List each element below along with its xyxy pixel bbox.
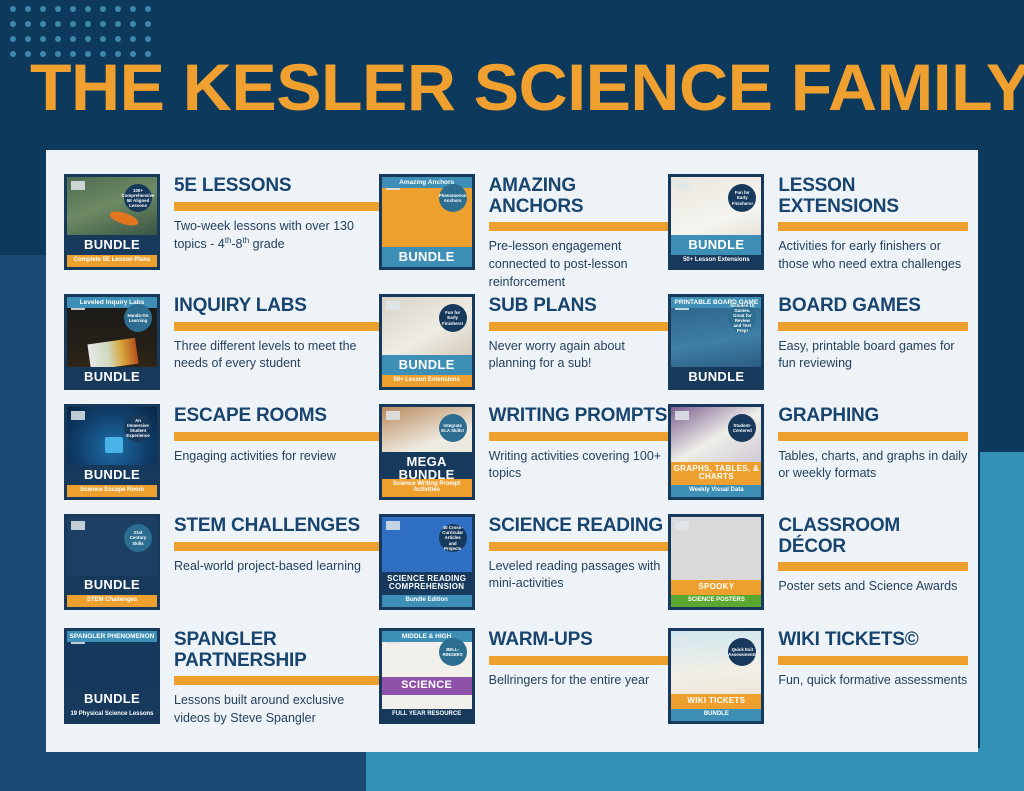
product-card[interactable]: SPOOKYSCIENCE POSTERSCLASSROOM DÉCORPost… xyxy=(668,512,968,626)
product-card[interactable]: SPANGLER PHENOMENONBUNDLE19 Physical Sci… xyxy=(64,626,379,728)
grid-dot xyxy=(130,6,136,12)
thumbnail-circle-badge: An Immersive Student Experience xyxy=(124,414,152,442)
title-underline-rule xyxy=(489,542,669,551)
thumbnail-circle-badge: Fun for Early Finishers! xyxy=(439,304,467,332)
thumbnail-bundle-label: BUNDLE xyxy=(67,235,157,255)
product-thumbnail[interactable]: SPOOKYSCIENCE POSTERS xyxy=(668,514,764,610)
grid-dot xyxy=(10,51,16,57)
kesler-logo-icon xyxy=(675,635,689,644)
grid-dot xyxy=(70,36,76,42)
thumbnail-bundle-label: BUNDLE xyxy=(67,575,157,595)
thumbnail-bundle-label: BUNDLE xyxy=(67,689,157,709)
product-thumbnail[interactable]: An Immersive Student ExperienceBUNDLESci… xyxy=(64,404,160,500)
product-thumbnail[interactable]: 21st Century SkillsBUNDLESTEM Challenges xyxy=(64,514,160,610)
grid-dot xyxy=(100,36,106,42)
title-underline-rule xyxy=(174,202,379,211)
product-text-block: WIKI TICKETS©Fun, quick formative assess… xyxy=(764,626,968,689)
grid-dot xyxy=(100,6,106,12)
product-description: Tables, charts, and graphs in daily or w… xyxy=(778,448,968,484)
kesler-logo-icon xyxy=(386,301,400,310)
product-card[interactable]: Leveled Inquiry LabsHands-On LearningBUN… xyxy=(64,292,379,402)
title-underline-rule xyxy=(778,322,968,331)
thumbnail-sub-label: 50+ Lesson Extensions xyxy=(382,375,472,387)
kesler-logo-icon xyxy=(386,521,400,530)
thumbnail-bundle-label: BUNDLE xyxy=(67,367,157,387)
grid-dot xyxy=(70,6,76,12)
product-card[interactable]: Amazing AnchorsPhenomenon AnchorsBUNDLEA… xyxy=(379,172,669,292)
product-card[interactable]: An Immersive Student ExperienceBUNDLESci… xyxy=(64,402,379,512)
product-text-block: CLASSROOM DÉCORPoster sets and Science A… xyxy=(764,512,968,596)
product-text-block: WRITING PROMPTSWriting activities coveri… xyxy=(475,402,669,483)
title-underline-rule xyxy=(174,542,379,551)
thumbnail-bundle-label: BUNDLE xyxy=(671,235,761,255)
product-row: SPANGLER PHENOMENONBUNDLE19 Physical Sci… xyxy=(64,626,968,728)
thumbnail-circle-badge: 21st Century Skills xyxy=(124,524,152,552)
grid-dot xyxy=(70,21,76,27)
product-card[interactable]: Quick Exit AssessmentsWIKI TICKETSBUNDLE… xyxy=(668,626,968,728)
product-description: Pre-lesson engagement connected to post-… xyxy=(489,238,669,291)
product-title: SPANGLER PARTNERSHIP xyxy=(174,630,379,671)
right-accent-band xyxy=(980,452,1024,791)
product-title: SCIENCE READING xyxy=(489,516,669,537)
grid-dot xyxy=(100,21,106,27)
product-card[interactable]: 40 Cross-Curricular Articles and Project… xyxy=(379,512,669,626)
left-accent-band xyxy=(0,255,46,791)
thumbnail-circle-badge: Hands-On Learning xyxy=(124,304,152,332)
thumbnail-bundle-label: BUNDLE xyxy=(671,367,761,387)
product-description: Easy, printable board games for fun revi… xyxy=(778,338,968,374)
thumbnail-circle-badge: 100+ Comprehensive 5E Aligned Lessons xyxy=(124,184,152,212)
title-underline-rule xyxy=(489,656,669,665)
grid-dot xyxy=(40,36,46,42)
kesler-logo-icon xyxy=(71,521,85,530)
grid-dot xyxy=(40,21,46,27)
product-title: WIKI TICKETS© xyxy=(778,630,968,651)
product-thumbnail[interactable]: Integrate ELA Skills!MEGA BUNDLEScience … xyxy=(379,404,475,500)
product-title: 5E LESSONS xyxy=(174,176,379,197)
grid-dot xyxy=(85,21,91,27)
product-thumbnail[interactable]: PRINTABLE BOARD GAMEIncludes 15 Games. G… xyxy=(668,294,764,390)
product-card[interactable]: 21st Century SkillsBUNDLESTEM Challenges… xyxy=(64,512,379,626)
thumbnail-circle-badge: 40 Cross-Curricular Articles and Project… xyxy=(439,524,467,552)
product-card[interactable]: Fun for Early Finishers!BUNDLE50+ Lesson… xyxy=(379,292,669,402)
product-thumbnail[interactable]: Leveled Inquiry LabsHands-On LearningBUN… xyxy=(64,294,160,390)
thumbnail-sub-label: BUNDLE xyxy=(671,709,761,721)
title-underline-rule xyxy=(778,562,968,571)
grid-dot xyxy=(25,21,31,27)
thumbnail-sub-label: 19 Physical Science Lessons xyxy=(67,709,157,721)
product-card[interactable]: Integrate ELA Skills!MEGA BUNDLEScience … xyxy=(379,402,669,512)
grid-dot xyxy=(145,21,151,27)
thumbnail-circle-badge: Phenomenon Anchors xyxy=(439,184,467,212)
product-thumbnail[interactable]: Fun for Early Finishers!BUNDLE50+ Lesson… xyxy=(379,294,475,390)
thumbnail-sub-label: FULL YEAR RESOURCE xyxy=(382,709,472,721)
product-title: BOARD GAMES xyxy=(778,296,968,317)
product-text-block: ESCAPE ROOMSEngaging activities for revi… xyxy=(160,402,379,465)
product-description: Two-week lessons with over 130 topics - … xyxy=(174,218,379,255)
product-title: AMAZING ANCHORS xyxy=(489,176,669,217)
grid-dot xyxy=(130,21,136,27)
product-card[interactable]: PRINTABLE BOARD GAMEIncludes 15 Games. G… xyxy=(668,292,968,402)
grid-dot xyxy=(55,21,61,27)
grid-dot xyxy=(115,36,121,42)
product-thumbnail[interactable]: Amazing AnchorsPhenomenon AnchorsBUNDLE xyxy=(379,174,475,270)
bottom-teal-band xyxy=(366,748,1024,791)
thumbnail-bundle-label: BUNDLE xyxy=(382,247,472,267)
product-description: Never worry again about planning for a s… xyxy=(489,338,669,374)
page-title: THE KESLER SCIENCE FAMILY xyxy=(30,54,1024,120)
product-title: CLASSROOM DÉCOR xyxy=(778,516,968,557)
product-card[interactable]: Student-CenteredGRAPHS, TABLES, & CHARTS… xyxy=(668,402,968,512)
thumbnail-circle-badge: Integrate ELA Skills! xyxy=(439,414,467,442)
product-description: Poster sets and Science Awards xyxy=(778,578,968,596)
products-grid: 100+ Comprehensive 5E Aligned LessonsBUN… xyxy=(46,150,978,752)
product-title: GRAPHING xyxy=(778,406,968,427)
grid-dot xyxy=(85,6,91,12)
product-text-block: SCIENCE READINGLeveled reading passages … xyxy=(475,512,669,593)
kesler-logo-icon xyxy=(71,411,85,420)
product-title: ESCAPE ROOMS xyxy=(174,406,379,427)
grid-dot xyxy=(25,6,31,12)
title-underline-rule xyxy=(489,322,669,331)
product-text-block: LESSON EXTENSIONSActivities for early fi… xyxy=(764,172,968,274)
title-underline-rule xyxy=(778,656,968,665)
bottom-navy-band xyxy=(0,748,366,791)
thumbnail-sub-label: Complete 5E Lesson Plans xyxy=(67,255,157,267)
product-thumbnail[interactable]: 100+ Comprehensive 5E Aligned LessonsBUN… xyxy=(64,174,160,270)
thumbnail-circle-badge: BELL-RINGERS xyxy=(439,638,467,666)
thumbnail-sub-label: Science Escape Room xyxy=(67,485,157,497)
product-card[interactable]: Fun for Early Finishers!BUNDLE50+ Lesson… xyxy=(668,172,968,292)
title-underline-rule xyxy=(174,322,379,331)
product-title: WRITING PROMPTS xyxy=(489,406,669,427)
grid-dot xyxy=(115,21,121,27)
grid-dot xyxy=(40,6,46,12)
thumbnail-sub-label: 50+ Lesson Extensions xyxy=(671,255,761,267)
product-text-block: 5E LESSONSTwo-week lessons with over 130… xyxy=(160,172,379,254)
product-title: SUB PLANS xyxy=(489,296,669,317)
thumbnail-sub-label: STEM Challenges xyxy=(67,595,157,607)
kesler-logo-icon xyxy=(675,521,689,530)
grid-dot xyxy=(85,36,91,42)
product-thumbnail[interactable]: MIDDLE & HIGHBELL-RINGERSSCIENCEFULL YEA… xyxy=(379,628,475,724)
product-row: 100+ Comprehensive 5E Aligned LessonsBUN… xyxy=(64,172,968,292)
product-text-block: WARM-UPSBellringers for the entire year xyxy=(475,626,669,689)
grid-dot xyxy=(10,21,16,27)
product-description: Lessons built around exclusive videos by… xyxy=(174,692,379,728)
product-description: Three different levels to meet the needs… xyxy=(174,338,379,374)
thumbnail-bundle-label: SCIENCE xyxy=(382,677,472,695)
product-description: Fun, quick formative assessments xyxy=(778,672,968,690)
grid-dot xyxy=(130,36,136,42)
product-row: Leveled Inquiry LabsHands-On LearningBUN… xyxy=(64,292,968,402)
product-text-block: SPANGLER PARTNERSHIPLessons built around… xyxy=(160,626,379,728)
product-description: Writing activities covering 100+ topics xyxy=(489,448,669,484)
product-title: LESSON EXTENSIONS xyxy=(778,176,968,217)
thumbnail-sub-label: SCIENCE POSTERS xyxy=(671,595,761,607)
product-row: An Immersive Student ExperienceBUNDLESci… xyxy=(64,402,968,512)
product-title: INQUIRY LABS xyxy=(174,296,379,317)
thumbnail-bundle-label: BUNDLE xyxy=(382,355,472,375)
product-card[interactable]: 100+ Comprehensive 5E Aligned LessonsBUN… xyxy=(64,172,379,292)
title-underline-rule xyxy=(778,432,968,441)
grid-dot xyxy=(10,36,16,42)
product-text-block: AMAZING ANCHORSPre-lesson engagement con… xyxy=(475,172,669,291)
grid-dot xyxy=(10,6,16,12)
thumbnail-circle-badge: Includes 15 Games. Great for Review and … xyxy=(728,304,756,332)
product-thumbnail[interactable]: Student-CenteredGRAPHS, TABLES, & CHARTS… xyxy=(668,404,764,500)
product-title: STEM CHALLENGES xyxy=(174,516,379,537)
thumbnail-bundle-label: SPOOKY xyxy=(671,580,761,595)
kesler-logo-icon xyxy=(675,411,689,420)
title-underline-rule xyxy=(174,432,379,441)
product-description: Bellringers for the entire year xyxy=(489,672,669,690)
product-text-block: GRAPHINGTables, charts, and graphs in da… xyxy=(764,402,968,483)
product-description: Activities for early finishers or those … xyxy=(778,238,968,274)
kesler-logo-icon xyxy=(386,411,400,420)
product-text-block: SUB PLANSNever worry again about plannin… xyxy=(475,292,669,373)
thumbnail-bundle-label: BUNDLE xyxy=(67,465,157,485)
product-text-block: BOARD GAMESEasy, printable board games f… xyxy=(764,292,968,373)
grid-dot xyxy=(55,6,61,12)
product-thumbnail[interactable]: Quick Exit AssessmentsWIKI TICKETSBUNDLE xyxy=(668,628,764,724)
thumbnail-top-label: SPANGLER PHENOMENON xyxy=(67,631,157,642)
product-description: Engaging activities for review xyxy=(174,448,379,466)
title-underline-rule xyxy=(778,222,968,231)
grid-dot xyxy=(115,6,121,12)
grid-dot xyxy=(145,36,151,42)
grid-dot xyxy=(145,6,151,12)
product-title: WARM-UPS xyxy=(489,630,669,651)
product-text-block: INQUIRY LABSThree different levels to me… xyxy=(160,292,379,373)
product-card[interactable]: MIDDLE & HIGHBELL-RINGERSSCIENCEFULL YEA… xyxy=(379,626,669,728)
kesler-logo-icon xyxy=(71,181,85,190)
thumbnail-sub-label: Science Writing Prompt Activities xyxy=(382,479,472,497)
thumbnail-bundle-label: GRAPHS, TABLES, & CHARTS xyxy=(671,462,761,485)
thumbnail-sub-label: Bundle Edition xyxy=(382,595,472,607)
title-underline-rule xyxy=(489,222,669,231)
product-thumbnail[interactable]: 40 Cross-Curricular Articles and Project… xyxy=(379,514,475,610)
product-thumbnail[interactable]: SPANGLER PHENOMENONBUNDLE19 Physical Sci… xyxy=(64,628,160,724)
product-text-block: STEM CHALLENGESReal-world project-based … xyxy=(160,512,379,575)
grid-dot xyxy=(55,36,61,42)
product-row: 21st Century SkillsBUNDLESTEM Challenges… xyxy=(64,512,968,626)
product-thumbnail[interactable]: Fun for Early Finishers!BUNDLE50+ Lesson… xyxy=(668,174,764,270)
title-underline-rule xyxy=(174,676,379,685)
products-panel: 100+ Comprehensive 5E Aligned LessonsBUN… xyxy=(46,150,978,752)
thumbnail-sub-label: Weekly Visual Data xyxy=(671,485,761,497)
product-description: Leveled reading passages with mini-activ… xyxy=(489,558,669,594)
kesler-logo-icon xyxy=(675,181,689,190)
grid-dot xyxy=(25,36,31,42)
product-description: Real-world project-based learning xyxy=(174,558,379,576)
thumbnail-bundle-label: SCIENCE READING COMPREHENSION xyxy=(382,572,472,595)
title-underline-rule xyxy=(489,432,669,441)
thumbnail-bundle-label: WIKI TICKETS xyxy=(671,694,761,709)
